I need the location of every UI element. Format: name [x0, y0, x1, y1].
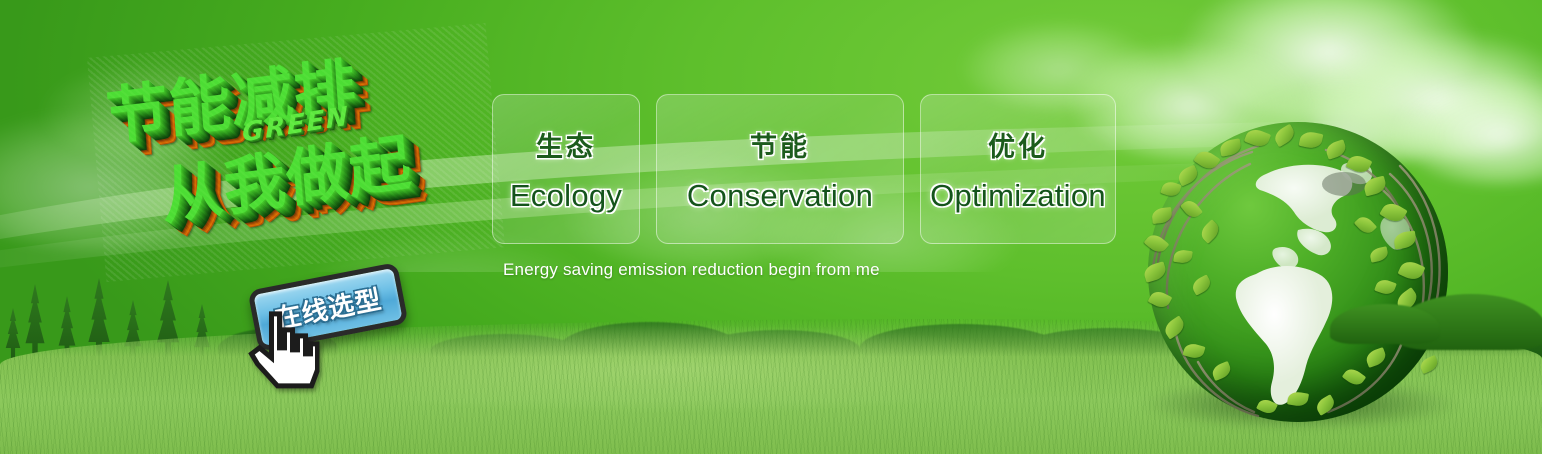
ivy-globe-illustration: [1148, 122, 1448, 422]
title-artwork: 节能减排 GREEN 从我做起: [87, 23, 505, 282]
feature-card-en-label: Optimization: [930, 178, 1106, 214]
feature-card-en-label: Ecology: [510, 178, 622, 214]
ground-highlight: [260, 324, 1080, 414]
feature-card-en-label: Conservation: [687, 178, 873, 214]
green-promo-banner: 节能减排 GREEN 从我做起 在线选型 生态 Ecology 节能 Conse…: [0, 0, 1542, 454]
feature-cards: 生态 Ecology 节能 Conservation 优化 Optimizati…: [492, 94, 1116, 244]
feature-card-cn-label: 优化: [988, 125, 1048, 164]
tree-icon: [0, 308, 26, 358]
feature-card-optimization[interactable]: 优化 Optimization: [920, 94, 1116, 244]
hand-pointer-icon: [241, 308, 319, 394]
banner-tagline: Energy saving emission reduction begin f…: [503, 260, 880, 280]
feature-card-conservation[interactable]: 节能 Conservation: [656, 94, 904, 244]
feature-card-cn-label: 生态: [536, 125, 596, 164]
feature-card-ecology[interactable]: 生态 Ecology: [492, 94, 640, 244]
feature-card-cn-label: 节能: [750, 125, 810, 164]
tree-icon: [18, 284, 52, 358]
globe-icon: [1148, 122, 1448, 422]
